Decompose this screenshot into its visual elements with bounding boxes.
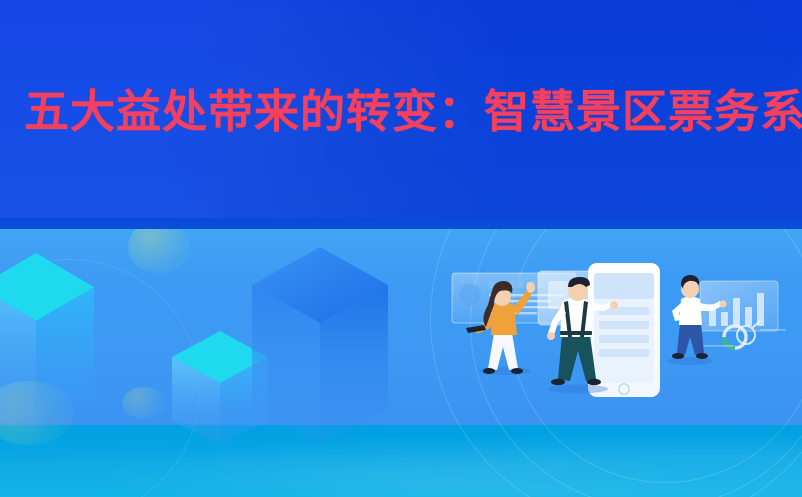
phone-hero-card: [594, 273, 654, 299]
phone-mockup[interactable]: [538, 263, 660, 397]
man-pants: [558, 335, 596, 381]
hero-banner: 五大益处带来的转变：智慧景区票务系统软件: [0, 0, 802, 497]
woman-orange-pants: [488, 333, 518, 370]
dashboard-pie-circle: [459, 284, 481, 306]
woman-orange-shoe-left: [483, 368, 495, 374]
man-hand-right: [610, 301, 618, 309]
woman-blue-shoe-left: [672, 353, 684, 359]
woman-blue-shoe-right: [696, 353, 708, 359]
scene-figures: [0, 229, 802, 497]
page-title: 五大益处带来的转变：智慧景区票务系统软件: [24, 80, 802, 144]
woman-blue-pants: [677, 323, 704, 355]
bar-chart-panel: [700, 281, 786, 348]
illustration-stage: [0, 229, 802, 497]
woman-blue-hand: [719, 300, 726, 307]
woman-orange-shoe-right: [511, 368, 523, 374]
headline-divider: [0, 218, 802, 229]
man-hand-left: [547, 332, 555, 340]
man-shoe-right: [587, 379, 601, 385]
woman-blue-top: [679, 297, 702, 326]
man-shoe-left: [551, 379, 565, 385]
